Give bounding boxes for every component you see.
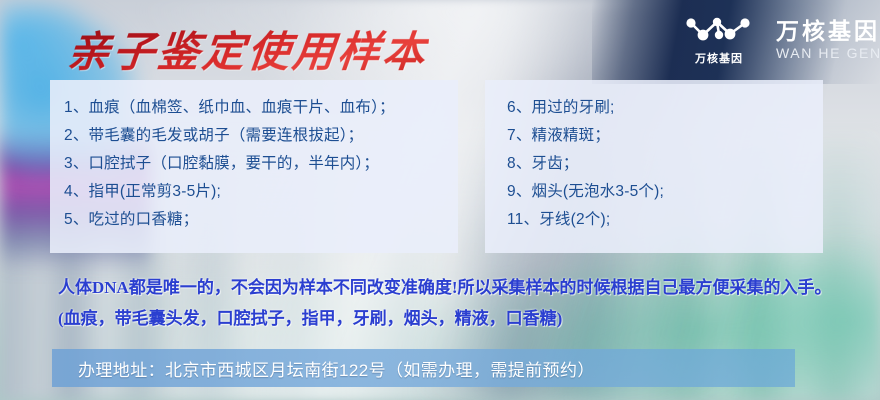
- dna-note-text: 人体DNA都是唯一的，不会因为样本不同改变准确度!所以采集样本的时候根据自己最方…: [58, 272, 848, 334]
- list-item: 8、牙齿；: [507, 150, 813, 178]
- poster-canvas: 万核基因 万核基因 WAN HE GENE 亲子鉴定使用样本 1、血痕（血棉签、…: [0, 0, 880, 400]
- logo-mark: 万核基因: [680, 14, 758, 66]
- sample-list-right: 6、用过的牙刷; 7、精液精斑； 8、牙齿； 9、烟头(无泡水3-5个); 11…: [507, 94, 813, 234]
- list-item: 6、用过的牙刷;: [507, 94, 813, 122]
- list-item: 5、吃过的口香糖；: [64, 206, 448, 234]
- list-item: 3、口腔拭子（口腔黏膜，要干的，半年内）；: [64, 150, 448, 178]
- page-title: 亲子鉴定使用样本: [65, 18, 431, 79]
- address-bar: 办理地址：北京市西城区月坛南街122号（如需办理，需提前预约）: [52, 349, 795, 387]
- sample-list-panel-left: 1、血痕（血棉签、纸巾血、血痕干片、血布）； 2、带毛囊的毛发或胡子（需要连根拔…: [50, 80, 458, 253]
- logo-mark-label: 万核基因: [695, 50, 743, 66]
- address-text: 办理地址：北京市西城区月坛南街122号（如需办理，需提前预约）: [78, 356, 595, 381]
- list-item: 4、指甲(正常剪3-5片);: [64, 178, 448, 206]
- sample-list-left: 1、血痕（血棉签、纸巾血、血痕干片、血布）； 2、带毛囊的毛发或胡子（需要连根拔…: [64, 94, 448, 234]
- list-item: 9、烟头(无泡水3-5个);: [507, 178, 813, 206]
- list-item: 1、血痕（血棉签、纸巾血、血痕干片、血布）；: [64, 94, 448, 122]
- list-item: 7、精液精斑；: [507, 122, 813, 150]
- molecule-icon: [683, 14, 755, 48]
- sample-list-panel-right: 6、用过的牙刷; 7、精液精斑； 8、牙齿； 9、烟头(无泡水3-5个); 11…: [485, 80, 823, 253]
- list-item: 2、带毛囊的毛发或胡子（需要连根拔起）；: [64, 122, 448, 150]
- list-item: 11、牙线(2个);: [507, 206, 813, 234]
- logo-name-cn: 万核基因: [776, 19, 880, 43]
- brand-logo[interactable]: 万核基因 万核基因 WAN HE GENE: [680, 14, 880, 66]
- logo-wordmark: 万核基因 WAN HE GENE: [776, 19, 880, 61]
- logo-name-en: WAN HE GENE: [776, 46, 880, 61]
